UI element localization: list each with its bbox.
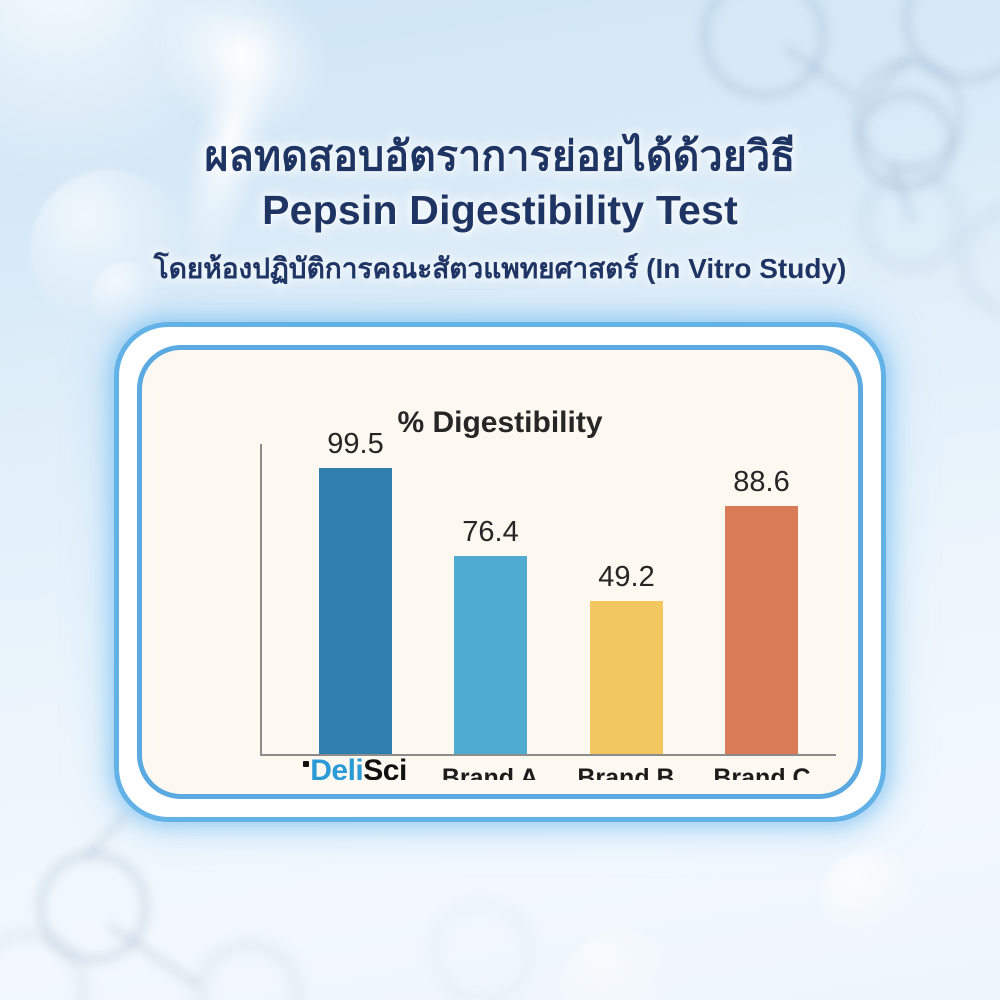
heading-block: ผลทดสอบอัตราการย่อยได้ด้วยวิธี Pepsin Di… <box>0 132 1000 291</box>
x-label-brand-c: Brand C <box>687 764 837 780</box>
delisci-logo-sci: Sci <box>363 754 407 780</box>
delisci-logo-deli: Deli <box>310 754 363 780</box>
bar-brand-c[interactable]: 88.6 <box>725 506 798 754</box>
card-border-outer: % Digestibility 99.5 76.4 <box>114 322 886 822</box>
x-label-brand-b: Brand B <box>551 764 701 780</box>
molecule-bond-tr-2 <box>859 52 914 112</box>
bar-value-delisci: 99.5 <box>327 428 383 461</box>
bar-brand-b[interactable]: 49.2 <box>590 601 663 754</box>
molecule-node-bl-3 <box>196 940 302 1000</box>
molecule-node-bl-2 <box>0 930 88 1000</box>
card-border-inner: % Digestibility 99.5 76.4 <box>137 345 863 799</box>
bar-value-brand-a: 76.4 <box>462 516 518 549</box>
delisci-logo: DeliSci Delicious & Science <box>303 756 407 780</box>
bar-brand-a[interactable]: 76.4 <box>454 556 527 754</box>
molecule-node-bl-1 <box>36 850 150 964</box>
molecule-bond-tr-1 <box>782 43 857 101</box>
chart-card: % Digestibility 99.5 76.4 <box>114 322 886 822</box>
y-axis-line <box>260 444 262 756</box>
bar-chart-plot: 99.5 76.4 49.2 <box>156 364 844 780</box>
x-label-brand-a: Brand A <box>415 764 565 780</box>
card-body: % Digestibility 99.5 76.4 <box>156 364 844 780</box>
molecule-node-bc-1 <box>430 900 534 1000</box>
x-label-delisci-logo: DeliSci Delicious & Science <box>280 756 430 780</box>
page-title-english: Pepsin Digestibility Test <box>0 186 1000 234</box>
delisci-logo-wordmark: DeliSci <box>303 756 407 780</box>
molecule-bond-bl-1 <box>105 921 201 990</box>
page-subtitle: โดยห้องปฏิบัติการคณะสัตวแพทยศาสตร์ (In V… <box>0 247 1000 291</box>
page-title-thai: ผลทดสอบอัตราการย่อยได้ด้วยวิธี <box>0 132 1000 180</box>
bubble-bottom-right <box>822 848 918 944</box>
bar-value-brand-c: 88.6 <box>733 466 789 499</box>
poster-canvas: ผลทดสอบอัตราการย่อยได้ด้วยวิธี Pepsin Di… <box>0 0 1000 1000</box>
bubble-bottom-center <box>560 930 680 1000</box>
delisci-logo-dot-icon <box>303 761 309 767</box>
bar-value-brand-b: 49.2 <box>598 561 654 594</box>
bar-delisci[interactable]: 99.5 <box>319 468 392 754</box>
molecule-node-tr-1 <box>700 0 828 100</box>
card-border-gap: % Digestibility 99.5 76.4 <box>124 332 876 812</box>
molecule-node-tr-2 <box>902 0 1000 84</box>
